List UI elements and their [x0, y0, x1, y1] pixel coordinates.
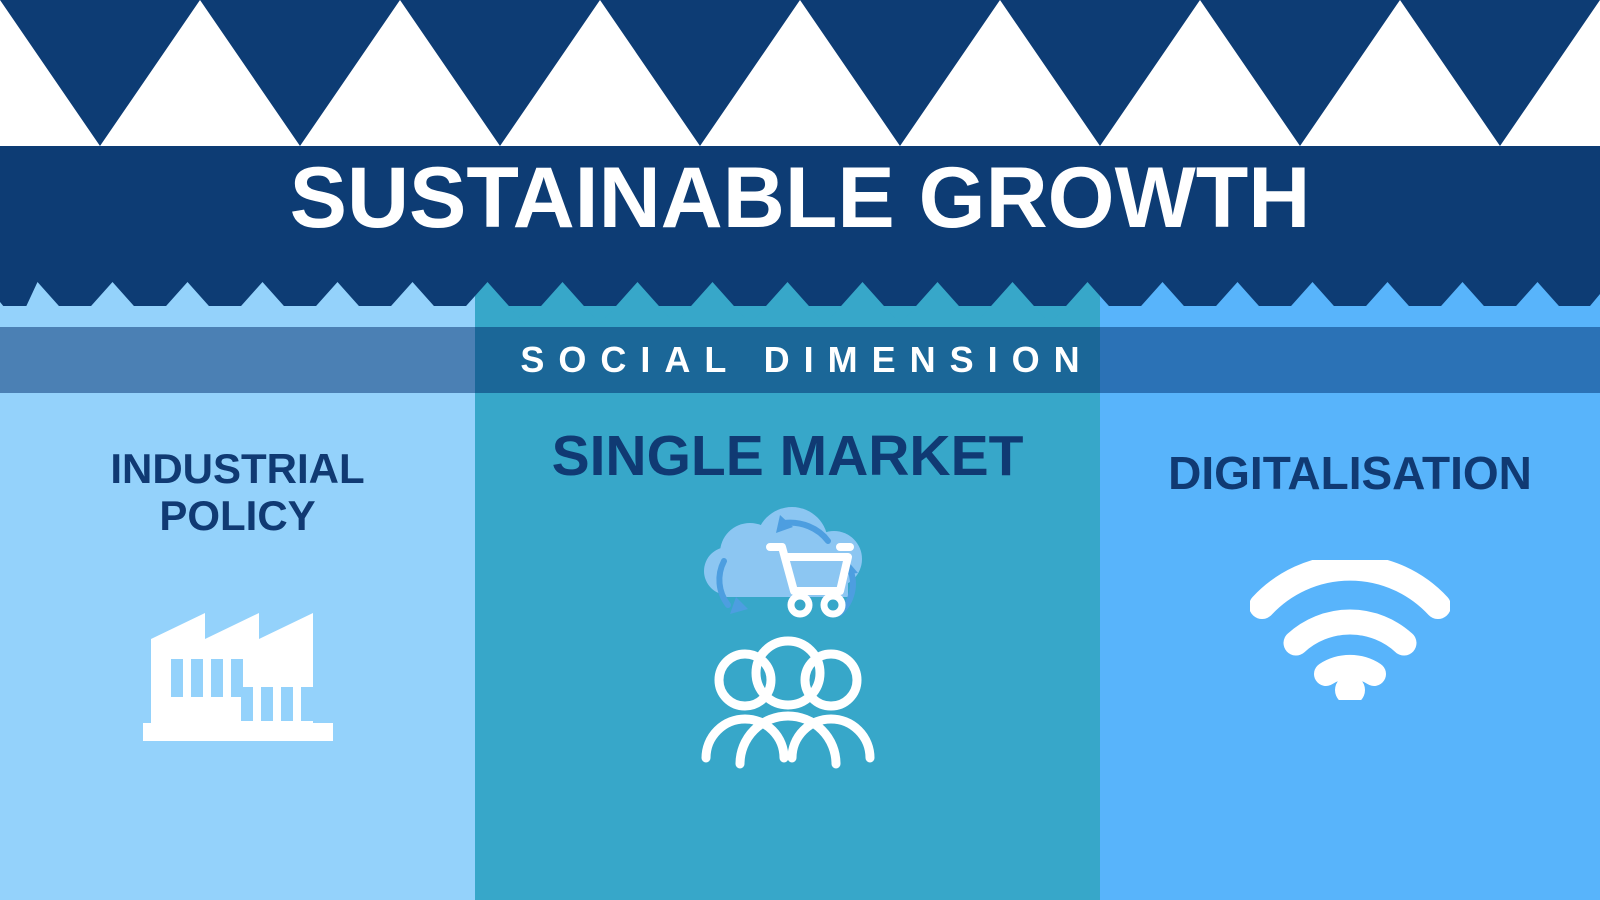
factory-icon [143, 591, 333, 741]
pillar-single-market[interactable]: SINGLE MARKET [475, 393, 1100, 900]
pillars-row: INDUSTRIAL POLICY [0, 393, 1600, 900]
lower-zigzag [0, 262, 1600, 324]
infographic-poster: SUSTAINABLE GROWTH SOCIAL DIMENSION INDU… [0, 0, 1600, 900]
pillar-title-industrial-policy: INDUSTRIAL POLICY [110, 445, 364, 539]
pillar-industrial-policy[interactable]: INDUSTRIAL POLICY [0, 393, 475, 900]
header-top-zigzag [0, 0, 1600, 146]
icon-wrap-digitalisation [1250, 560, 1450, 700]
social-dimension-band: SOCIAL DIMENSION [0, 327, 1600, 393]
icon-wrap-industrial-policy [143, 591, 333, 741]
pillar-title-digitalisation: DIGITALISATION [1168, 448, 1532, 500]
pillar-digitalisation[interactable]: DIGITALISATION [1100, 393, 1600, 900]
icon-wrap-single-market [688, 501, 888, 772]
social-dimension-label: SOCIAL DIMENSION [0, 327, 1600, 393]
page-title: SUSTAINABLE GROWTH [0, 148, 1600, 248]
header-block: SUSTAINABLE GROWTH [0, 0, 1600, 306]
pillar-title-single-market: SINGLE MARKET [552, 425, 1024, 489]
people-group-icon [698, 632, 878, 772]
wifi-icon [1250, 560, 1450, 700]
cloud-shopping-cart-icon [688, 501, 888, 626]
